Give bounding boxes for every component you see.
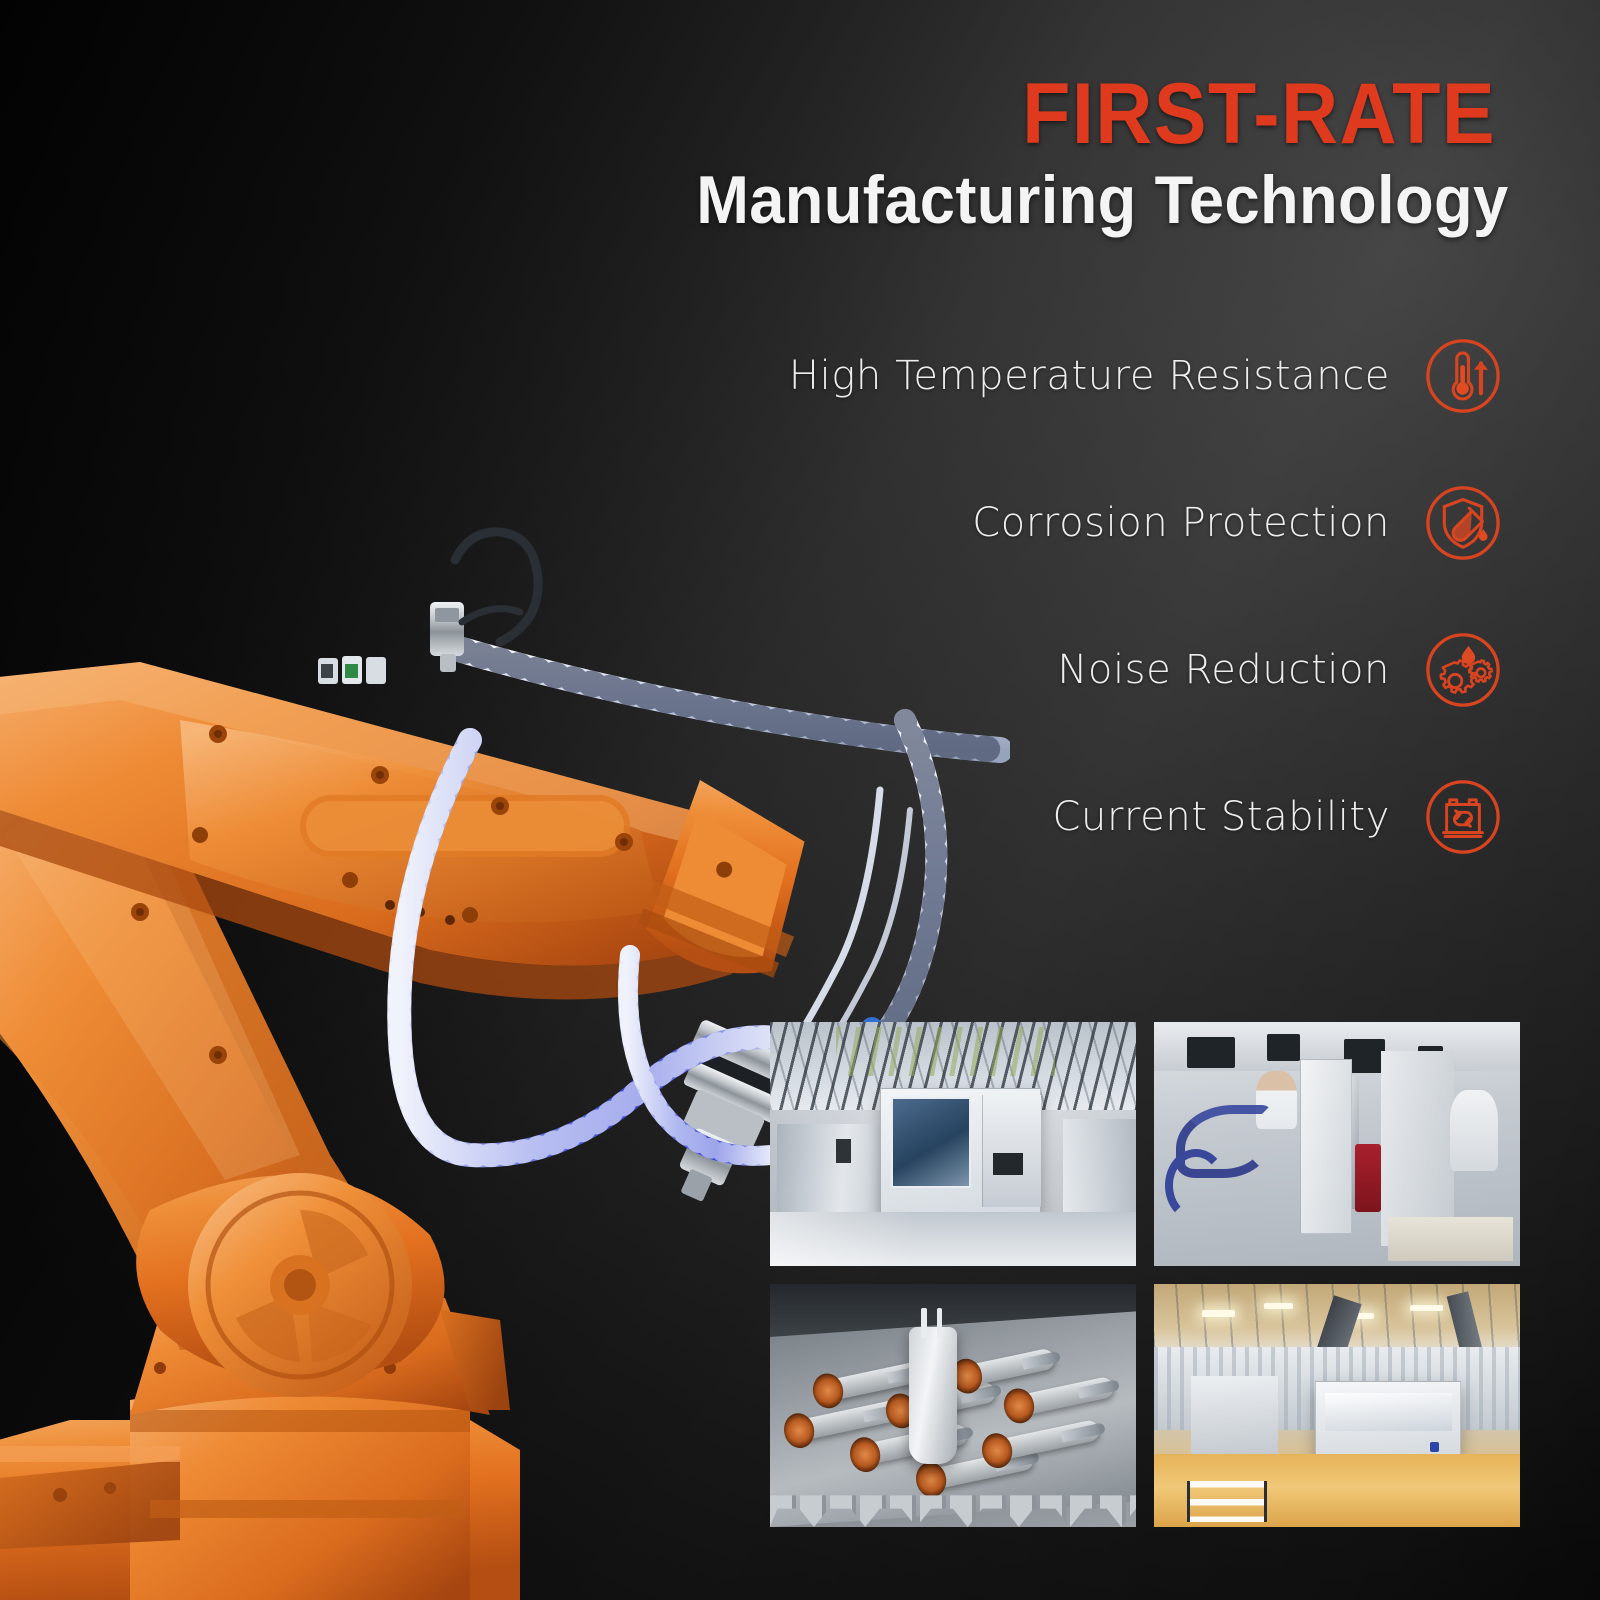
feature-item-corrosion-protection[interactable]: Corrosion Protection [802, 477, 1502, 569]
motor-rotor-assembly-line-photo[interactable] [770, 1284, 1136, 1528]
feature-label: Noise Reduction [1057, 647, 1390, 693]
feature-list: High Temperature Resistance Corrosion Pr… [802, 330, 1502, 863]
feature-label: High Temperature Resistance [789, 353, 1390, 399]
headline-block: FIRST-RATE Manufacturing Technology [636, 72, 1496, 236]
gears-oil-drop-icon [1424, 631, 1502, 709]
promo-banner: FIRST-RATE Manufacturing Technology High… [0, 0, 1600, 1600]
photo-grid [770, 1022, 1520, 1527]
machine-interior-technicians-photo[interactable] [1154, 1022, 1520, 1266]
page-title: FIRST-RATE [705, 72, 1496, 156]
thermometer-up-arrow-icon [1424, 337, 1502, 415]
feature-label: Corrosion Protection [972, 500, 1390, 546]
feature-item-current-stability[interactable]: Current Stability [802, 771, 1502, 863]
feature-label: Current Stability [1052, 794, 1390, 840]
feature-item-high-temperature-resistance[interactable]: High Temperature Resistance [802, 330, 1502, 422]
feature-item-noise-reduction[interactable]: Noise Reduction [802, 624, 1502, 716]
page-subtitle: Manufacturing Technology [696, 166, 1496, 235]
shield-test-tube-icon [1424, 484, 1502, 562]
factory-production-hall-photo[interactable] [1154, 1284, 1520, 1528]
semiconductor-fab-hall-photo[interactable] [770, 1022, 1136, 1266]
battery-recycle-icon [1424, 778, 1502, 856]
